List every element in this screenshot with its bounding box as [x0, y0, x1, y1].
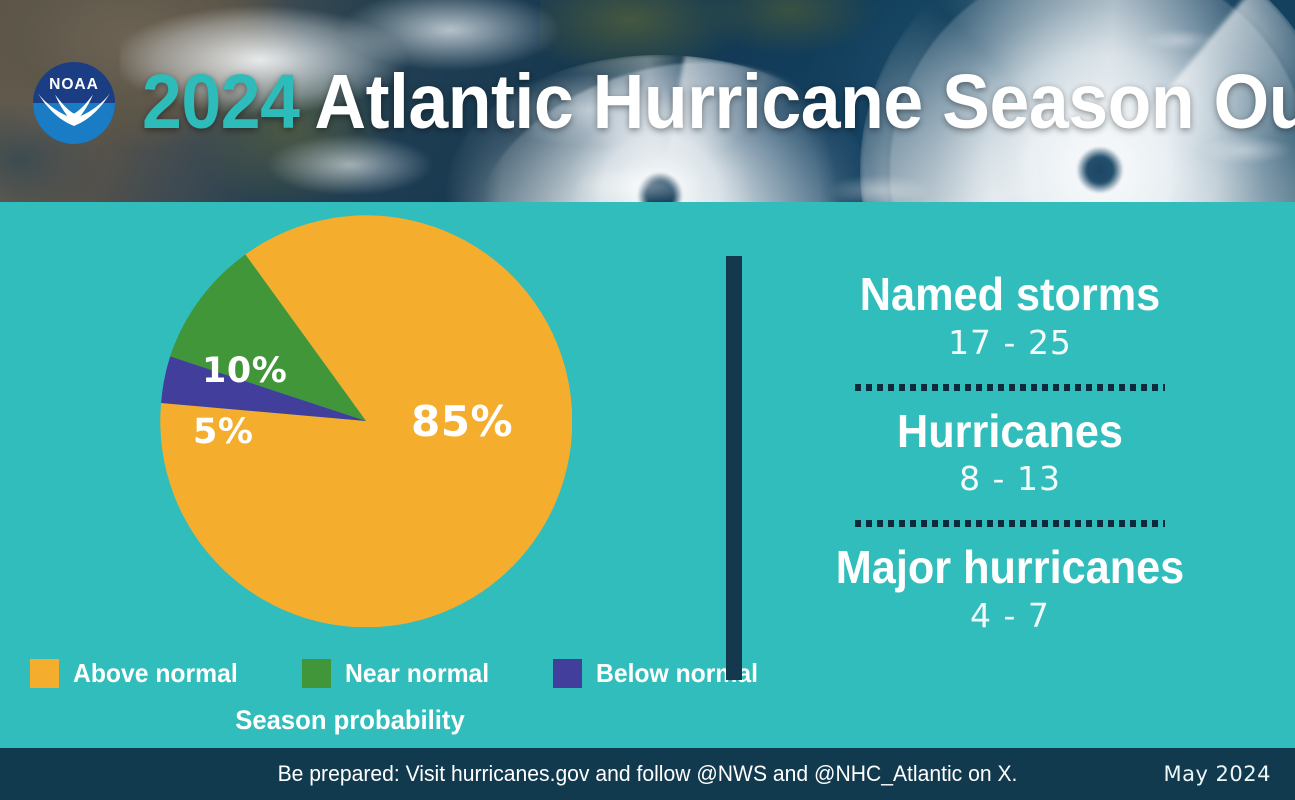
stat-label-named-storms: Named storms — [813, 270, 1208, 319]
stat-label-major-hurricanes: Major hurricanes — [813, 543, 1208, 592]
stat-separator-1 — [855, 384, 1165, 391]
legend-swatch-above-normal — [30, 659, 59, 688]
legend-label-near-normal: Near normal — [345, 658, 489, 689]
stat-named-storms: Named storms 17 - 25 — [800, 270, 1220, 365]
title-year: 2024 — [142, 58, 299, 147]
legend-label-above-normal: Above normal — [73, 658, 238, 689]
footer-date: May 2024 — [1163, 748, 1271, 800]
chart-legend: Above normal Near normal Below normal — [30, 658, 823, 689]
vertical-divider — [726, 256, 742, 680]
noaa-logo-icon: NOAA — [33, 62, 115, 144]
pie-label-near-normal: 10% — [202, 351, 287, 391]
forecast-stats-panel: Named storms 17 - 25 Hurricanes 8 - 13 M… — [800, 270, 1220, 638]
stat-label-hurricanes: Hurricanes — [813, 407, 1208, 456]
stat-major-hurricanes: Major hurricanes 4 - 7 — [800, 543, 1220, 638]
season-probability-pie-chart: 85% 10% 5% — [160, 215, 572, 627]
legend-item-near-normal: Near normal — [302, 658, 497, 689]
title-text: Atlantic Hurricane Season Outlook — [314, 58, 1295, 147]
footer-message: Be prepared: Visit hurricanes.gov and fo… — [26, 748, 1269, 800]
stat-range-hurricanes: 8 - 13 — [800, 458, 1220, 501]
legend-swatch-below-normal — [553, 659, 582, 688]
legend-item-above-normal: Above normal — [30, 658, 246, 689]
legend-swatch-near-normal — [302, 659, 331, 688]
stat-hurricanes: Hurricanes 8 - 13 — [800, 407, 1220, 502]
stat-separator-2 — [855, 520, 1165, 527]
stat-range-major-hurricanes: 4 - 7 — [800, 595, 1220, 638]
noaa-logo-text: NOAA — [49, 76, 99, 93]
hurricane-outlook-infographic: NOAA 2024 Atlantic Hurricane Season Outl… — [0, 0, 1295, 800]
pie-label-above-normal: 85% — [411, 397, 513, 446]
pie-label-below-normal: 5% — [193, 412, 253, 452]
chart-caption: Season probability — [18, 705, 683, 736]
page-title: 2024 Atlantic Hurricane Season Outlook — [142, 54, 1295, 150]
footer-bar: Be prepared: Visit hurricanes.gov and fo… — [0, 748, 1295, 800]
stat-range-named-storms: 17 - 25 — [800, 322, 1220, 365]
